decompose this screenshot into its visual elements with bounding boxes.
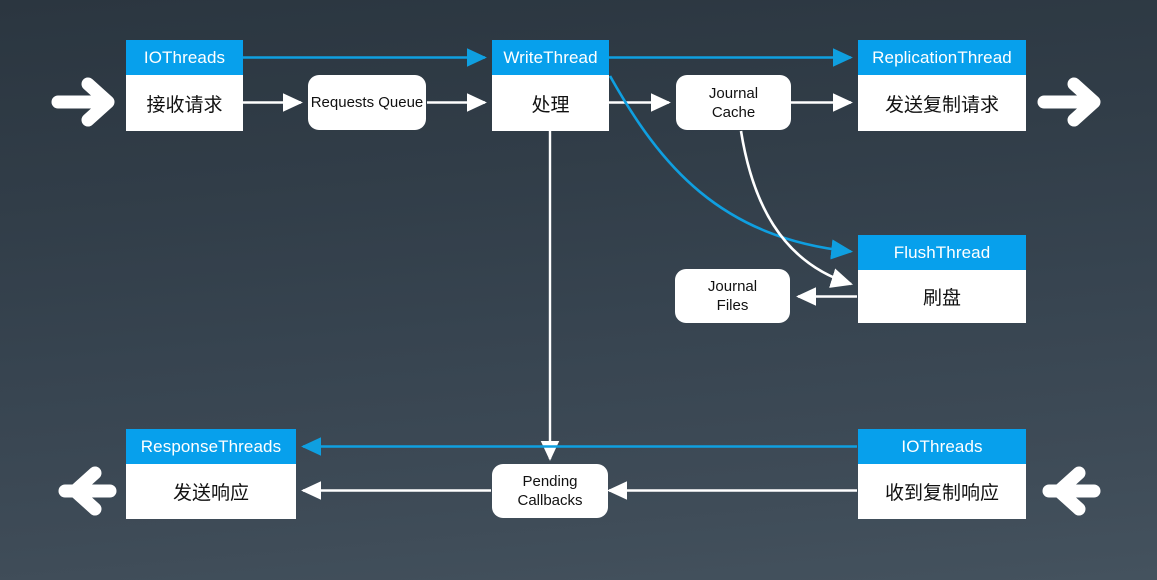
node-header-label: WriteThread	[492, 40, 609, 75]
node-header-label: IOThreads	[126, 40, 243, 75]
node-body-label: 处理	[492, 75, 609, 131]
node-body-label: 接收请求	[126, 75, 243, 131]
outbound-client-arrow	[65, 473, 110, 509]
node-pending-callbacks[interactable]: Pending Callbacks	[492, 464, 608, 518]
outbound-response-arrow	[1044, 84, 1094, 120]
node-body-label: 发送复制请求	[858, 75, 1026, 131]
node-header-label: FlushThread	[858, 235, 1026, 270]
node-flush-thread[interactable]: FlushThread 刷盘	[858, 235, 1026, 323]
node-header-label: ReplicationThread	[858, 40, 1026, 75]
node-body-label: 收到复制响应	[858, 464, 1026, 519]
diagram-canvas: IOThreads 接收请求 WriteThread 处理 Replicatio…	[0, 0, 1157, 580]
node-journal-cache[interactable]: Journal Cache	[676, 75, 791, 130]
inbound-request-arrow	[58, 84, 108, 120]
node-body-label: 发送响应	[126, 464, 296, 519]
node-requests-queue[interactable]: Requests Queue	[308, 75, 426, 130]
node-body-label: 刷盘	[858, 270, 1026, 323]
node-response-threads[interactable]: ResponseThreads 发送响应	[126, 429, 296, 519]
node-io-threads-in[interactable]: IOThreads 接收请求	[126, 40, 243, 131]
node-write-thread[interactable]: WriteThread 处理	[492, 40, 609, 131]
inbound-replica-arrow	[1049, 473, 1094, 509]
node-journal-files[interactable]: Journal Files	[675, 269, 790, 323]
node-header-label: ResponseThreads	[126, 429, 296, 464]
edge-journal-cache-to-flushthread-curve	[741, 131, 851, 284]
node-io-threads-out[interactable]: IOThreads 收到复制响应	[858, 429, 1026, 519]
node-replication-thread[interactable]: ReplicationThread 发送复制请求	[858, 40, 1026, 131]
node-header-label: IOThreads	[858, 429, 1026, 464]
